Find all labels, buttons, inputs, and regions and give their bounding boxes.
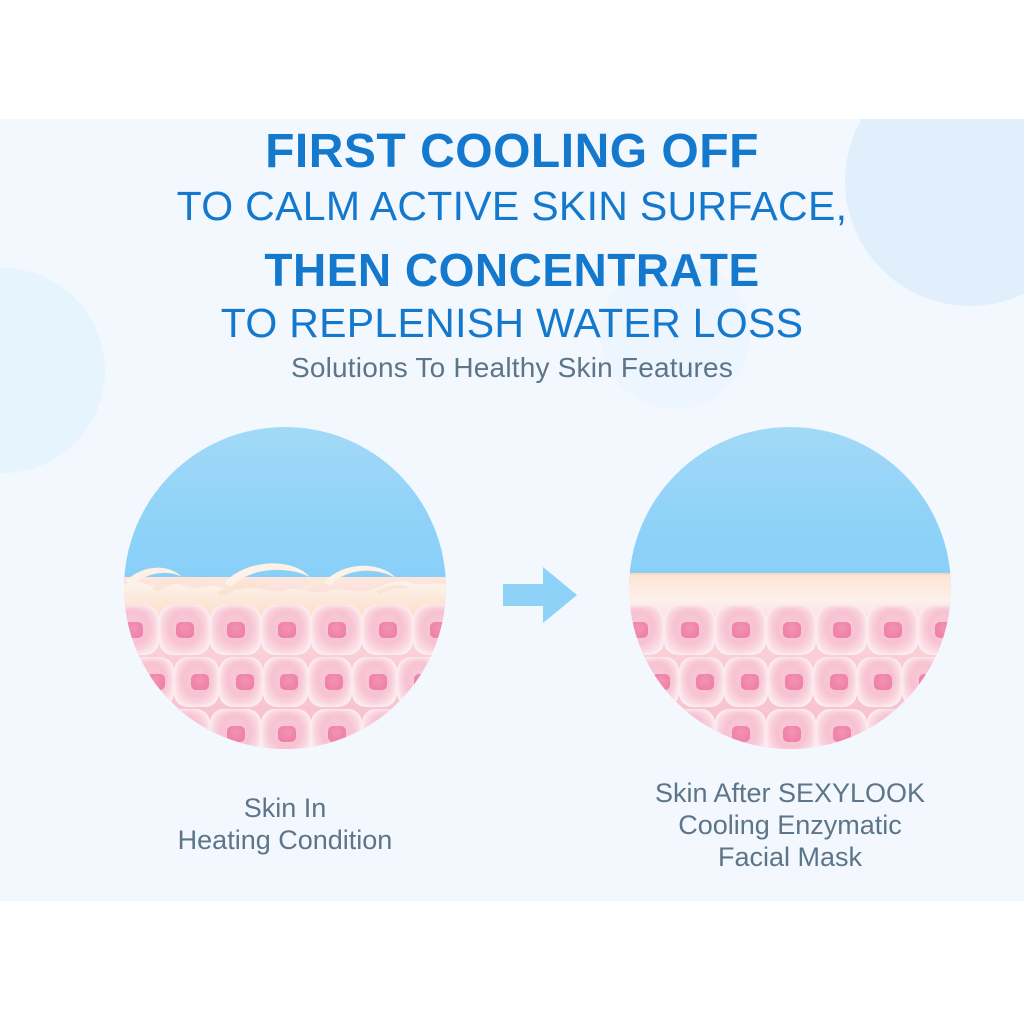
skin-cell [219, 657, 264, 707]
skin-cell [664, 709, 715, 749]
flaking-surface-layer [124, 555, 446, 601]
cell-nucleus [874, 674, 892, 690]
skin-cell [629, 605, 664, 655]
skin-cell [867, 709, 918, 749]
headline-line-3: THEN CONCENTRATE [0, 247, 1024, 293]
skin-cell [397, 657, 442, 707]
cell-nucleus [328, 726, 346, 742]
cell-nucleus [833, 726, 851, 742]
cell-nucleus [732, 726, 750, 742]
caption-before: Skin In Heating Condition [75, 793, 495, 857]
cell-nucleus [325, 674, 343, 690]
cell-nucleus [328, 622, 346, 638]
cell-nucleus [176, 622, 194, 638]
skin-cell [816, 605, 867, 655]
cell-nucleus [696, 674, 714, 690]
skin-cell [124, 657, 130, 707]
skin-cell [629, 709, 664, 749]
cell-nucleus [833, 622, 851, 638]
cell-nucleus [630, 726, 648, 742]
cell-nucleus [236, 674, 254, 690]
skin-cell [124, 709, 159, 749]
skin-cell [311, 605, 362, 655]
skin-cell [768, 657, 813, 707]
cell-nucleus [935, 622, 951, 638]
cell-nucleus [430, 726, 446, 742]
skin-cell [261, 709, 312, 749]
cell-nucleus [830, 674, 848, 690]
cell-nucleus [278, 622, 296, 638]
skin-cell [766, 605, 817, 655]
cell-nucleus [227, 726, 245, 742]
cell-nucleus [783, 622, 801, 638]
skin-cell [918, 605, 951, 655]
cell-nucleus [681, 622, 699, 638]
caption-before-line-2: Heating Condition [75, 825, 495, 857]
cell-nucleus [741, 674, 759, 690]
skin-cell [816, 709, 867, 749]
cell-nucleus [785, 674, 803, 690]
skin-cell [918, 709, 951, 749]
skin-cell [362, 709, 413, 749]
cell-nucleus [379, 726, 397, 742]
skin-cell [664, 605, 715, 655]
cell-nucleus [379, 622, 397, 638]
skin-cell [813, 657, 858, 707]
cell-nucleus [147, 674, 165, 690]
skin-cell [352, 657, 397, 707]
caption-after-line-1: Skin After SEXYLOOK [580, 778, 1000, 810]
skin-cell [124, 605, 159, 655]
skin-cell [159, 605, 210, 655]
skin-cell [261, 605, 312, 655]
air-layer [629, 427, 951, 597]
skin-cell [210, 605, 261, 655]
skin-cell [174, 657, 219, 707]
caption-before-line-1: Skin In [75, 793, 495, 825]
headline-line-2: TO CALM ACTIVE SKIN SURFACE, [0, 186, 1024, 227]
cell-nucleus [732, 622, 750, 638]
caption-after: Skin After SEXYLOOK Cooling Enzymatic Fa… [580, 778, 1000, 874]
skin-cell [130, 657, 175, 707]
skin-cell [629, 657, 635, 707]
cell-nucleus [652, 674, 670, 690]
cell-nucleus [278, 726, 296, 742]
cell-nucleus [125, 726, 143, 742]
cell-nucleus [227, 622, 245, 638]
arrow-right-icon [503, 565, 577, 625]
skin-cell [210, 709, 261, 749]
cell-nucleus [919, 674, 937, 690]
skin-cross-section-rough [124, 427, 446, 749]
subtitle: Solutions To Healthy Skin Features [0, 352, 1024, 384]
headline-line-4: TO REPLENISH WATER LOSS [0, 303, 1024, 344]
cell-nucleus [884, 726, 902, 742]
skin-cell [724, 657, 769, 707]
headline-line-1: FIRST COOLING OFF [0, 128, 1024, 176]
cell-nucleus [935, 726, 951, 742]
skin-cell [159, 709, 210, 749]
cell-nucleus [125, 622, 143, 638]
cell-nucleus [280, 674, 298, 690]
skin-cross-section-smooth [629, 427, 951, 749]
cell-row [124, 605, 446, 657]
skin-cell [311, 709, 362, 749]
cell-nucleus [369, 674, 387, 690]
promo-graphic: FIRST COOLING OFF TO CALM ACTIVE SKIN SU… [0, 0, 1024, 1024]
skin-cell [263, 657, 308, 707]
skin-cell [902, 657, 947, 707]
skin-cell [679, 657, 724, 707]
cell-nucleus [414, 674, 432, 690]
cell-nucleus [430, 622, 446, 638]
cell-row [629, 657, 946, 709]
skin-cell [635, 657, 680, 707]
surface-edge-line [629, 573, 951, 575]
skin-cell [308, 657, 353, 707]
cell-grid-rough [124, 605, 446, 749]
cell-nucleus [176, 726, 194, 742]
cell-row [124, 709, 446, 749]
cell-nucleus [630, 622, 648, 638]
caption-after-line-3: Facial Mask [580, 842, 1000, 874]
caption-after-line-2: Cooling Enzymatic [580, 810, 1000, 842]
cell-row [629, 605, 951, 657]
cell-nucleus [783, 726, 801, 742]
skin-cell [413, 605, 446, 655]
cell-nucleus [191, 674, 209, 690]
cell-nucleus [681, 726, 699, 742]
skin-cell [413, 709, 446, 749]
cell-grid-smooth [629, 605, 951, 749]
cell-nucleus [884, 622, 902, 638]
skin-cell [715, 605, 766, 655]
skin-cell [867, 605, 918, 655]
skin-cell [362, 605, 413, 655]
skin-cell [857, 657, 902, 707]
cell-row [629, 709, 951, 749]
skin-cell [766, 709, 817, 749]
cell-row [124, 657, 441, 709]
skin-cell [715, 709, 766, 749]
